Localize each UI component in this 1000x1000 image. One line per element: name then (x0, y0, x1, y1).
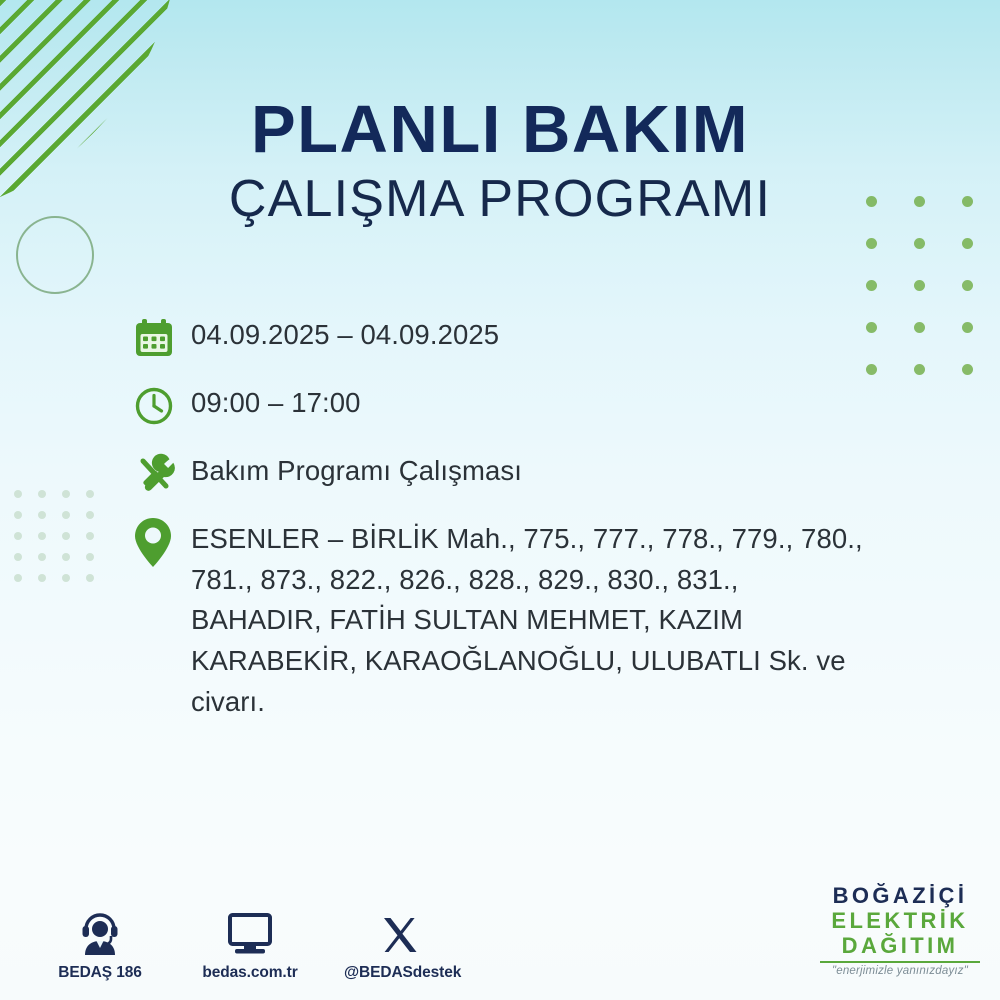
contact-channels: BEDAŞ 186 bedas.com.tr (44, 910, 456, 982)
address-line: KARABEKİR, KARAOĞLANOĞLU, ULUBATLI Sk. v… (191, 641, 973, 682)
contact-website[interactable]: bedas.com.tr (194, 910, 306, 982)
contact-social[interactable]: @BEDASdestek (344, 910, 456, 982)
dot-grid-left-decoration (14, 490, 110, 595)
outage-info-list: 04.09.2025 – 04.09.2025 09:00 – 17:00 (133, 312, 973, 740)
contact-phone[interactable]: BEDAŞ 186 (44, 910, 156, 982)
call-center-agent-icon (44, 910, 156, 956)
location-text: ESENLER – BİRLİK Mah., 775., 777., 778.,… (191, 516, 973, 722)
poster-header: PLANLI BAKIM ÇALIŞMA PROGRAMI (0, 96, 1000, 227)
address-line: ESENLER – BİRLİK Mah., 775., 777., 778.,… (191, 519, 973, 560)
work-type-text: Bakım Programı Çalışması (191, 448, 973, 490)
address-line: civarı. (191, 682, 973, 723)
contact-social-label: @BEDASdestek (344, 964, 456, 982)
brand-line-dagitim: DAĞITIM (820, 934, 980, 959)
calendar-icon (133, 312, 191, 362)
circle-outline-decoration (16, 216, 94, 294)
contact-phone-label: BEDAŞ 186 (44, 964, 156, 982)
clock-icon (133, 380, 191, 430)
x-twitter-icon (344, 910, 456, 956)
info-row-time: 09:00 – 17:00 (133, 380, 973, 430)
info-row-location: ESENLER – BİRLİK Mah., 775., 777., 778.,… (133, 516, 973, 722)
tools-icon (133, 448, 191, 498)
location-pin-icon (133, 516, 191, 566)
brand-line-elektrik: ELEKTRİK (820, 909, 980, 934)
address-line: BAHADIR, FATİH SULTAN MEHMET, KAZIM (191, 600, 973, 641)
info-row-date: 04.09.2025 – 04.09.2025 (133, 312, 973, 362)
date-range-text: 04.09.2025 – 04.09.2025 (191, 312, 973, 354)
info-row-work-type: Bakım Programı Çalışması (133, 448, 973, 498)
address-line: 781., 873., 822., 826., 828., 829., 830.… (191, 560, 973, 601)
time-range-text: 09:00 – 17:00 (191, 380, 973, 422)
monitor-icon (194, 910, 306, 956)
poster-canvas: PLANLI BAKIM ÇALIŞMA PROGRAMI (0, 0, 1000, 1000)
brand-line-bogazici: BOĞAZİÇİ (820, 884, 980, 909)
brand-divider (820, 961, 980, 963)
page-subtitle: ÇALIŞMA PROGRAMI (0, 172, 1000, 227)
page-title: PLANLI BAKIM (0, 96, 1000, 164)
brand-tagline: "enerjimizle yanınızdayız" (820, 965, 980, 978)
bedas-logo: BOĞAZİÇİ ELEKTRİK DAĞITIM "enerjimizle y… (820, 884, 980, 978)
poster-footer: BEDAŞ 186 bedas.com.tr (0, 870, 1000, 1000)
contact-website-label: bedas.com.tr (194, 964, 306, 982)
